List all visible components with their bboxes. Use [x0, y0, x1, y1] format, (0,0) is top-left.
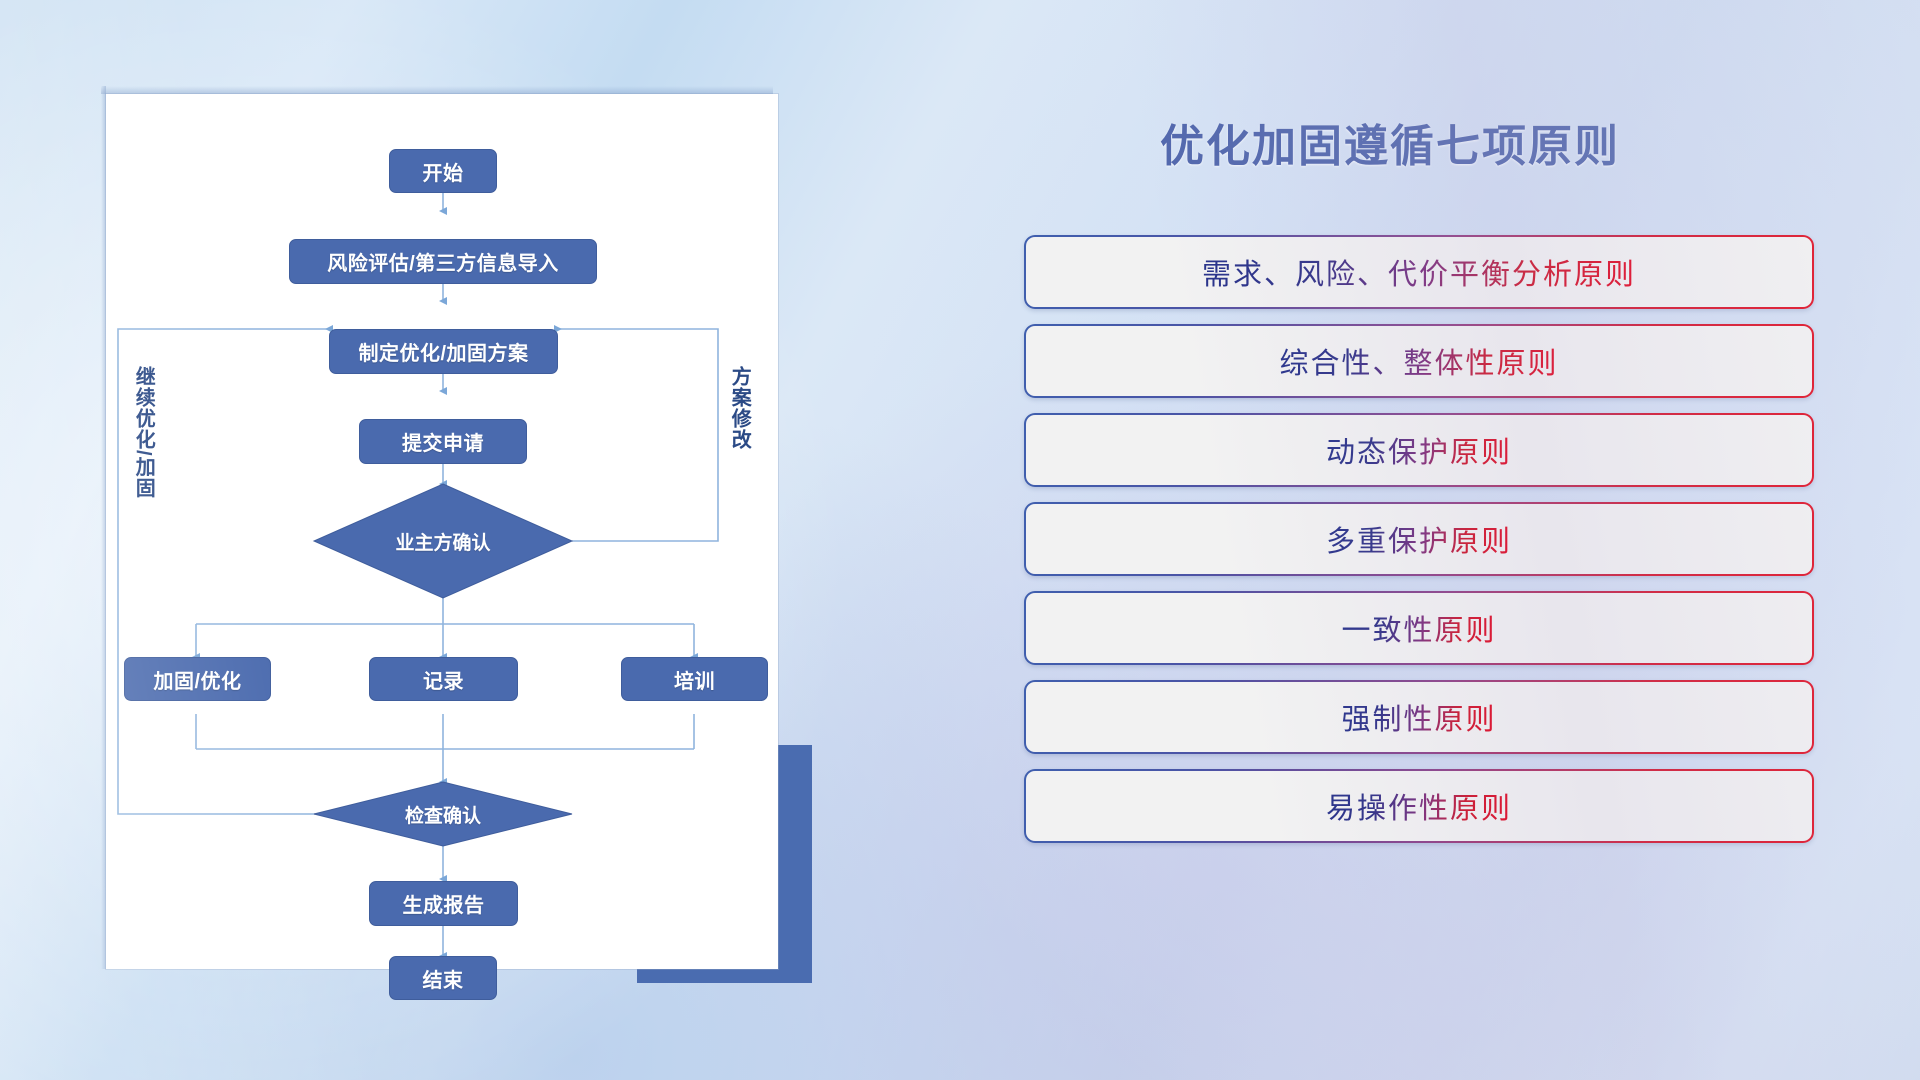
principle-item-6[interactable]: 强制性原则 [1024, 680, 1814, 754]
flow-node-plan[interactable]: 制定优化/加固方案 [329, 329, 558, 374]
principle-item-5[interactable]: 一致性原则 [1024, 591, 1814, 665]
principle-inner-4: 多重保护原则 [1026, 504, 1812, 574]
principle-inner-7: 易操作性原则 [1026, 771, 1812, 841]
principle-item-4[interactable]: 多重保护原则 [1024, 502, 1814, 576]
principle-inner-6: 强制性原则 [1026, 682, 1812, 752]
principle-inner-3: 动态保护原则 [1026, 415, 1812, 485]
principle-inner-5: 一致性原则 [1026, 593, 1812, 663]
flow-node-generate-report[interactable]: 生成报告 [369, 881, 518, 926]
flow-node-training[interactable]: 培训 [621, 657, 768, 701]
principle-inner-2: 综合性、整体性原则 [1026, 326, 1812, 396]
principles-list: 需求、风险、代价平衡分析原则 综合性、整体性原则 动态保护原则 多重保护原则 一… [1024, 235, 1814, 858]
principle-label-6: 强制性原则 [1341, 696, 1496, 738]
page-title: 优化加固遵循七项原则 [1030, 110, 1750, 174]
principle-item-7[interactable]: 易操作性原则 [1024, 769, 1814, 843]
flow-node-record[interactable]: 记录 [369, 657, 518, 701]
flow-edge-label-plan-revision: 方案修改 [728, 366, 749, 450]
flowchart-connectors [106, 94, 778, 969]
principle-label-5: 一致性原则 [1341, 607, 1496, 649]
flowchart-card: 开始 风险评估/第三方信息导入 制定优化/加固方案 提交申请 业主方确认 加固/… [106, 94, 778, 969]
flow-node-start[interactable]: 开始 [389, 149, 497, 193]
principle-label-2: 综合性、整体性原则 [1279, 340, 1558, 382]
slide-canvas: 开始 风险评估/第三方信息导入 制定优化/加固方案 提交申请 业主方确认 加固/… [0, 0, 1920, 1080]
principle-label-1: 需求、风险、代价平衡分析原则 [1202, 251, 1636, 293]
principle-label-4: 多重保护原则 [1326, 518, 1512, 560]
principle-label-7: 易操作性原则 [1326, 785, 1512, 827]
principle-item-3[interactable]: 动态保护原则 [1024, 413, 1814, 487]
principle-item-2[interactable]: 综合性、整体性原则 [1024, 324, 1814, 398]
flow-edge-label-continue-optimize: 继续优化/加固 [132, 366, 153, 499]
flow-node-reinforce-optimize[interactable]: 加固/优化 [124, 657, 271, 701]
flowchart-canvas: 开始 风险评估/第三方信息导入 制定优化/加固方案 提交申请 业主方确认 加固/… [106, 94, 778, 969]
flow-node-end[interactable]: 结束 [389, 956, 497, 1000]
flow-node-risk-assessment[interactable]: 风险评估/第三方信息导入 [289, 239, 597, 284]
principle-label-3: 动态保护原则 [1326, 429, 1512, 471]
principle-item-1[interactable]: 需求、风险、代价平衡分析原则 [1024, 235, 1814, 309]
flow-node-submit-application[interactable]: 提交申请 [359, 419, 527, 464]
principle-inner-1: 需求、风险、代价平衡分析原则 [1026, 237, 1812, 307]
